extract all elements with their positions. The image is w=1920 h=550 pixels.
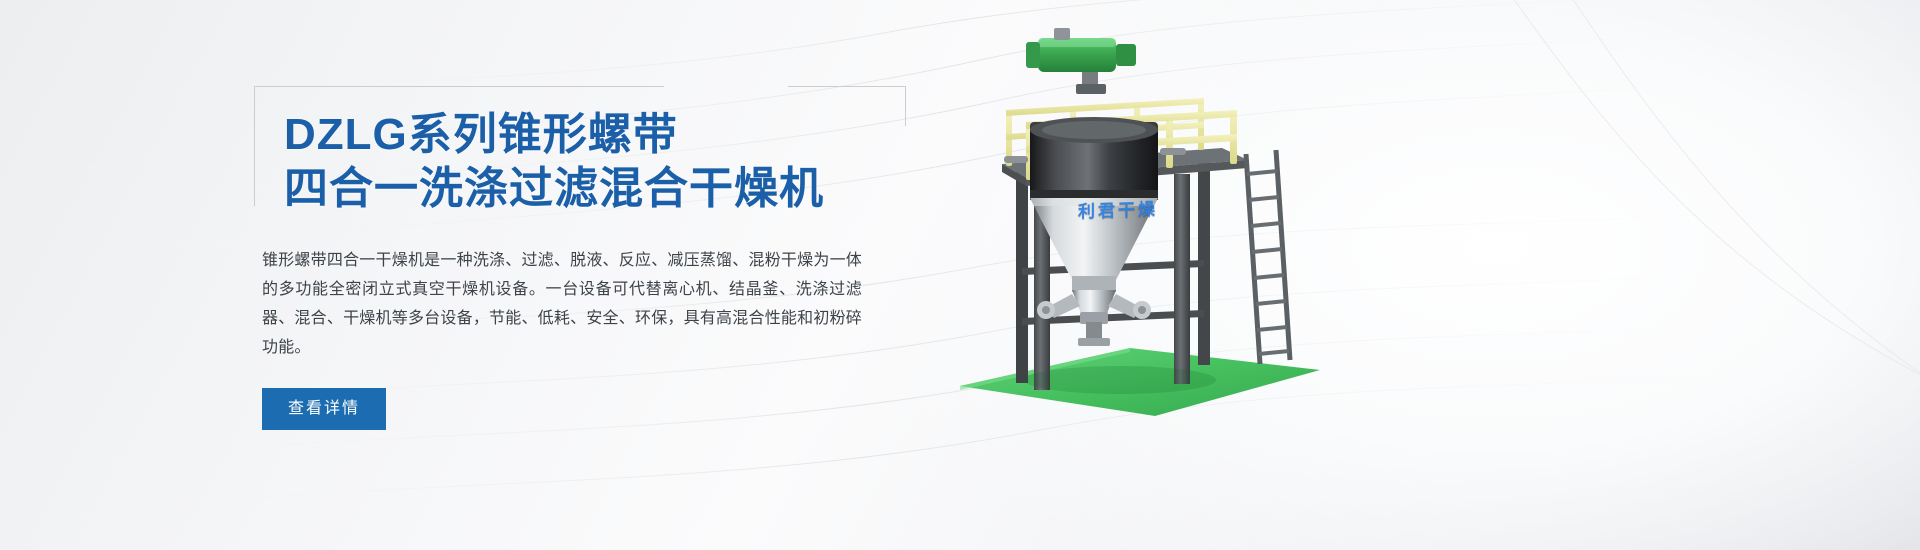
- view-details-button[interactable]: 查看详情: [262, 388, 386, 430]
- banner-title: DZLG系列锥形螺带 四合一洗涤过滤混合干燥机: [254, 86, 894, 226]
- product-image-dryer: [930, 18, 1350, 438]
- hero-banner: DZLG系列锥形螺带 四合一洗涤过滤混合干燥机 锥形螺带四合一干燥机是一种洗涤、…: [0, 0, 1920, 550]
- banner-copy: DZLG系列锥形螺带 四合一洗涤过滤混合干燥机 锥形螺带四合一干燥机是一种洗涤、…: [254, 86, 894, 430]
- title-line-1: DZLG系列锥形螺带: [284, 108, 894, 162]
- banner-description: 锥形螺带四合一干燥机是一种洗涤、过滤、脱液、反应、减压蒸馏、混粉干燥为一体的多功…: [262, 246, 862, 362]
- title-line-2: 四合一洗涤过滤混合干燥机: [284, 162, 894, 216]
